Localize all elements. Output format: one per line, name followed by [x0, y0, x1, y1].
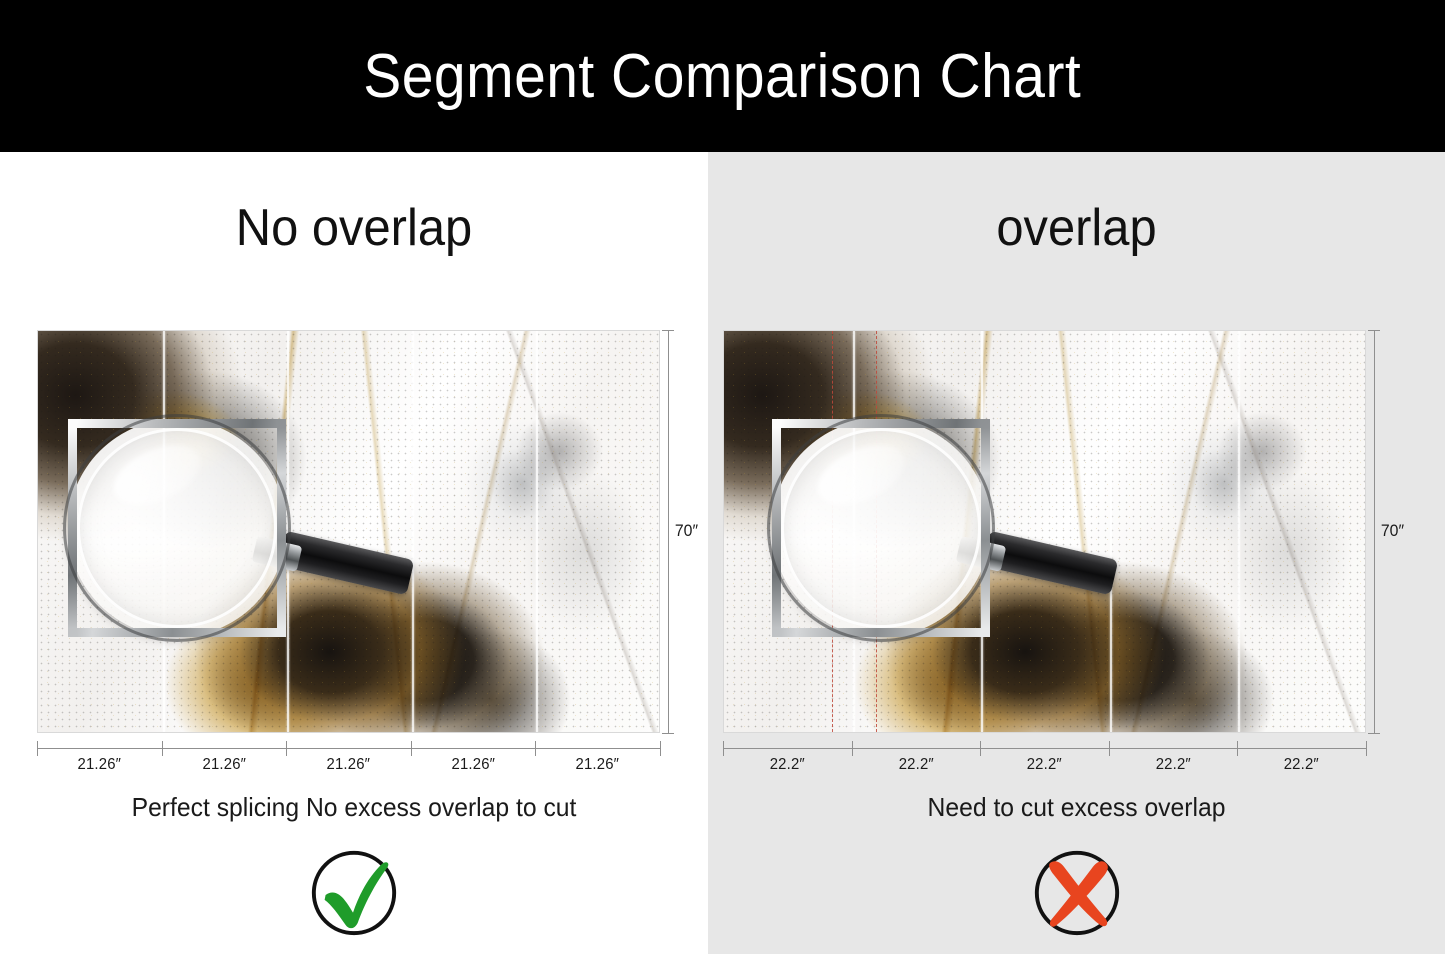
segment-width-label: 22.2″	[1242, 756, 1362, 774]
segment-divider	[1238, 331, 1240, 732]
dimension-line-vertical	[1374, 330, 1375, 733]
dimension-tick	[1109, 741, 1110, 756]
dimension-tick	[1366, 741, 1367, 756]
segment-comparison-chart: Segment Comparison Chart No overlap	[0, 0, 1445, 954]
segment-width-labels-overlap: 22.2″ 22.2″ 22.2″ 22.2″ 22.2″	[723, 756, 1366, 774]
segment-width-label: 21.26″	[415, 756, 531, 774]
overlap-guide-line	[876, 331, 877, 732]
title-bar: Segment Comparison Chart	[0, 0, 1445, 152]
segment-width-labels-no-overlap: 21.26″ 21.26″ 21.26″ 21.26″ 21.26″	[37, 756, 660, 774]
dimension-tick	[1237, 741, 1238, 756]
marble-speckle	[724, 331, 1365, 732]
mural-image-no-overlap	[37, 330, 660, 733]
artwork-overlap	[723, 330, 1366, 733]
check-icon	[300, 844, 408, 940]
segment-width-label: 22.2″	[985, 756, 1105, 774]
panel-heading-overlap: overlap	[730, 198, 1423, 258]
segment-divider	[163, 331, 165, 732]
cross-icon	[1023, 844, 1131, 940]
panel-height-label-overlap: 70″	[1381, 521, 1404, 541]
dimension-tick	[286, 741, 287, 756]
segment-width-label: 21.26″	[41, 756, 157, 774]
page-title: Segment Comparison Chart	[363, 41, 1081, 112]
panel-height-label-no-overlap: 70″	[675, 521, 698, 541]
segment-divider	[1110, 331, 1112, 732]
caption-overlap: Need to cut excess overlap	[726, 792, 1426, 823]
panel-no-overlap: No overlap	[0, 152, 708, 954]
comparison-panels: No overlap	[0, 152, 1445, 954]
dimension-line-horizontal	[37, 748, 660, 749]
dimension-tick	[535, 741, 536, 756]
segment-divider	[287, 331, 289, 732]
segment-width-label: 21.26″	[540, 756, 656, 774]
segment-width-label: 22.2″	[1113, 756, 1233, 774]
dimension-cap	[662, 733, 674, 734]
segment-divider	[536, 331, 538, 732]
dimension-tick	[980, 741, 981, 756]
segment-divider	[981, 331, 983, 732]
dimension-tick	[162, 741, 163, 756]
dimension-cap	[662, 330, 674, 331]
segment-width-label: 21.26″	[166, 756, 282, 774]
segment-divider	[412, 331, 414, 732]
dimension-cap	[1368, 330, 1380, 331]
overlap-guide-line	[832, 331, 833, 732]
dimension-tick	[852, 741, 853, 756]
panel-heading-no-overlap: No overlap	[21, 198, 687, 258]
dimension-tick	[660, 741, 661, 756]
artwork-no-overlap	[37, 330, 660, 733]
dimension-tick	[411, 741, 412, 756]
segment-divider	[853, 331, 855, 732]
marble-speckle	[38, 331, 659, 732]
mural-image-overlap	[723, 330, 1366, 733]
dimension-tick	[37, 741, 38, 756]
dimension-line-vertical	[668, 330, 669, 733]
panel-overlap: overlap	[708, 152, 1445, 954]
dimension-cap	[1368, 733, 1380, 734]
caption-no-overlap: Perfect splicing No excess overlap to cu…	[18, 792, 691, 823]
dimension-line-horizontal	[723, 748, 1366, 749]
dimension-tick	[723, 741, 724, 756]
segment-width-label: 21.26″	[291, 756, 407, 774]
segment-width-label: 22.2″	[728, 756, 848, 774]
segment-width-label: 22.2″	[856, 756, 976, 774]
